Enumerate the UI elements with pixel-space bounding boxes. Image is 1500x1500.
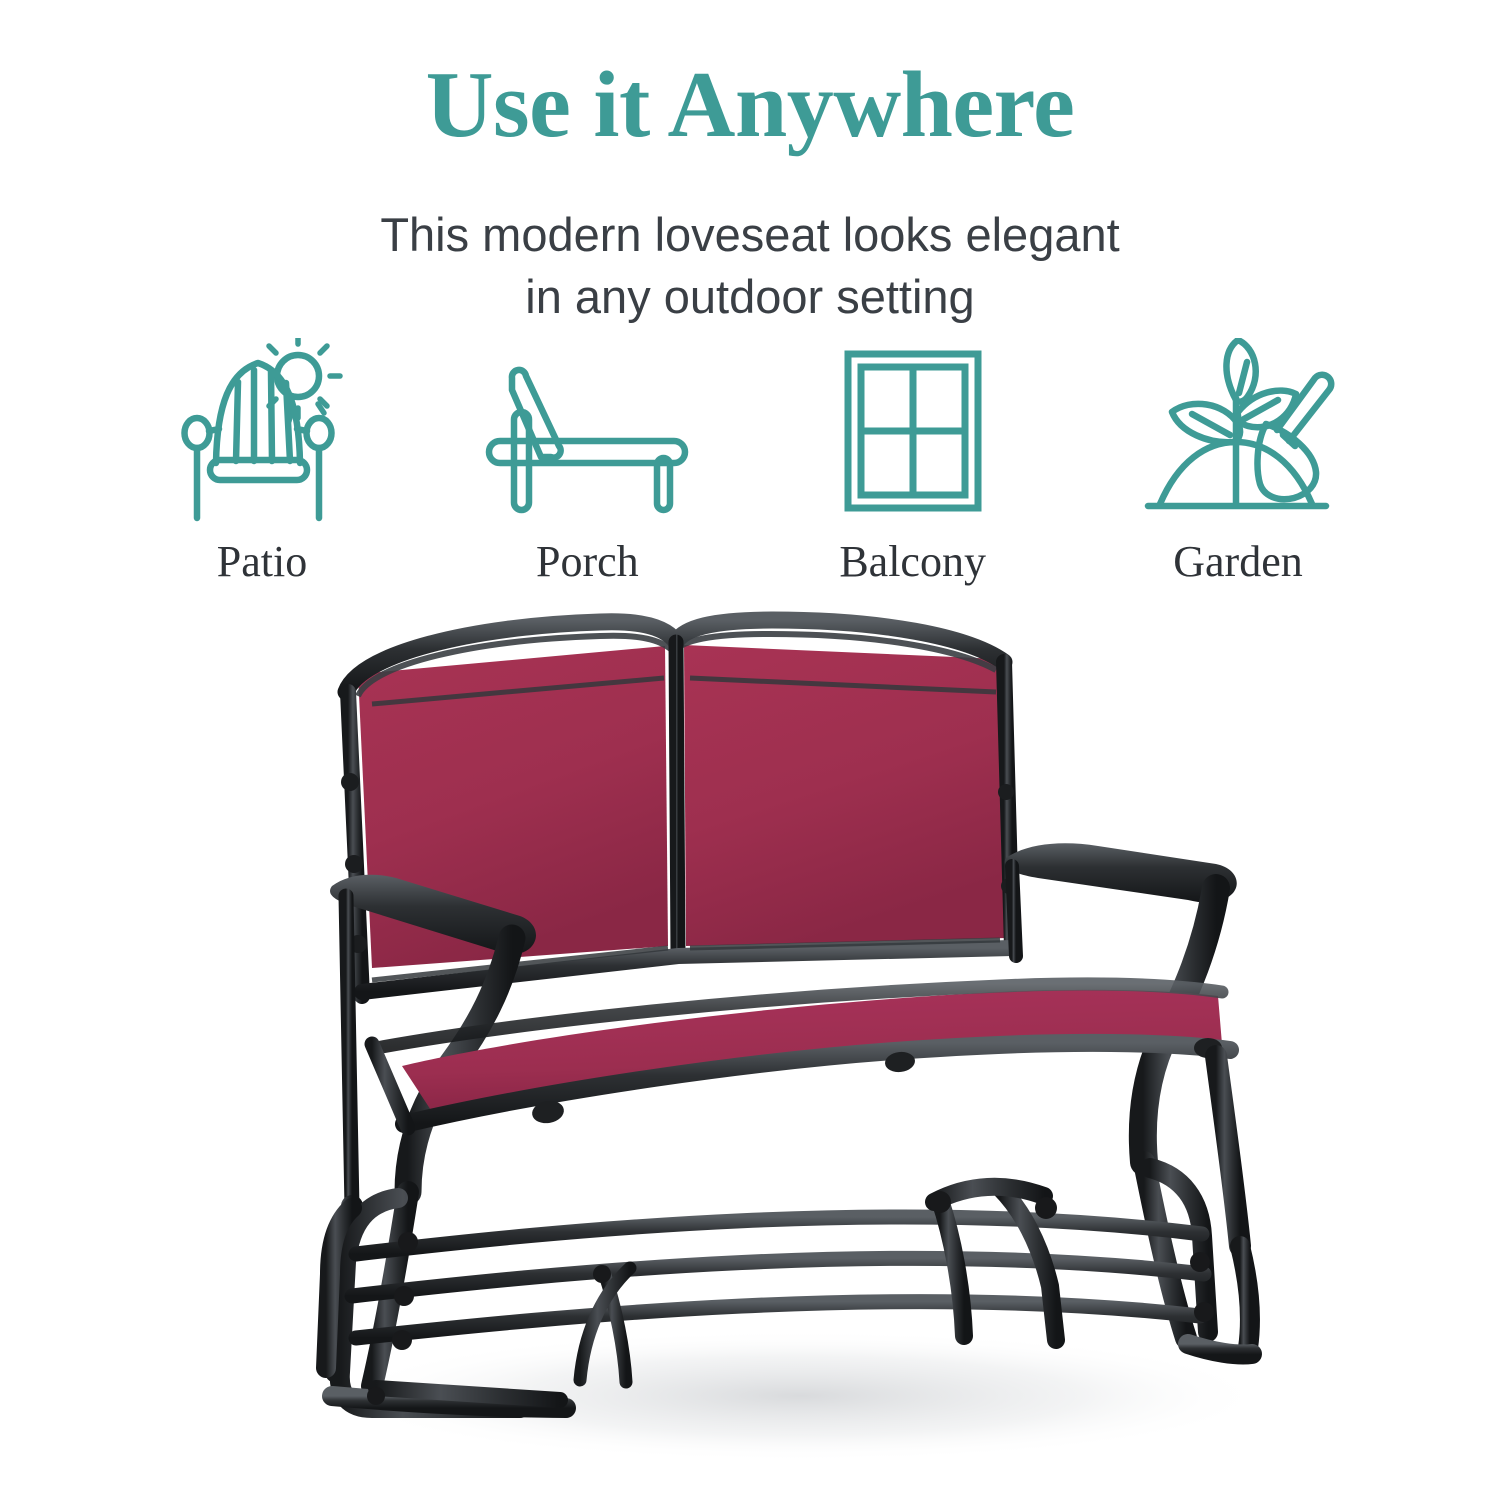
feature-item-garden: Garden: [1088, 322, 1388, 584]
marketing-infographic: Use it Anywhere This modern loveseat loo…: [0, 0, 1500, 1500]
page-title: Use it Anywhere: [0, 56, 1500, 156]
window-four-pane-icon: [839, 336, 987, 524]
feature-label-porch: Porch: [536, 540, 639, 584]
plant-shovel-icon: [1138, 336, 1338, 524]
product-image: [0, 596, 1500, 1500]
adirondack-chair-sun-icon: [172, 336, 352, 524]
glider-cross-rails: [352, 1217, 1204, 1338]
feature-item-balcony: Balcony: [763, 322, 1063, 584]
feature-label-garden: Garden: [1173, 540, 1303, 584]
feature-item-porch: Porch: [437, 322, 737, 584]
lounge-chaise-icon: [481, 336, 693, 524]
armrest-right-post: [1012, 866, 1016, 956]
page-subtitle: This modern loveseat looks elegant in an…: [0, 204, 1500, 328]
feature-label-patio: Patio: [217, 540, 307, 584]
glider-loveseat-illustration: [0, 596, 1500, 1500]
backrest-center-post: [676, 642, 678, 954]
subtitle-line-1: This modern loveseat looks elegant: [0, 204, 1500, 266]
armrest-left-post: [346, 896, 352, 1208]
subtitle-line-2: in any outdoor setting: [0, 266, 1500, 328]
seat-side-rail-left: [372, 1044, 408, 1128]
feature-item-patio: Patio: [112, 322, 412, 584]
feature-list: Patio Porch: [112, 322, 1388, 584]
feature-label-balcony: Balcony: [839, 540, 986, 584]
